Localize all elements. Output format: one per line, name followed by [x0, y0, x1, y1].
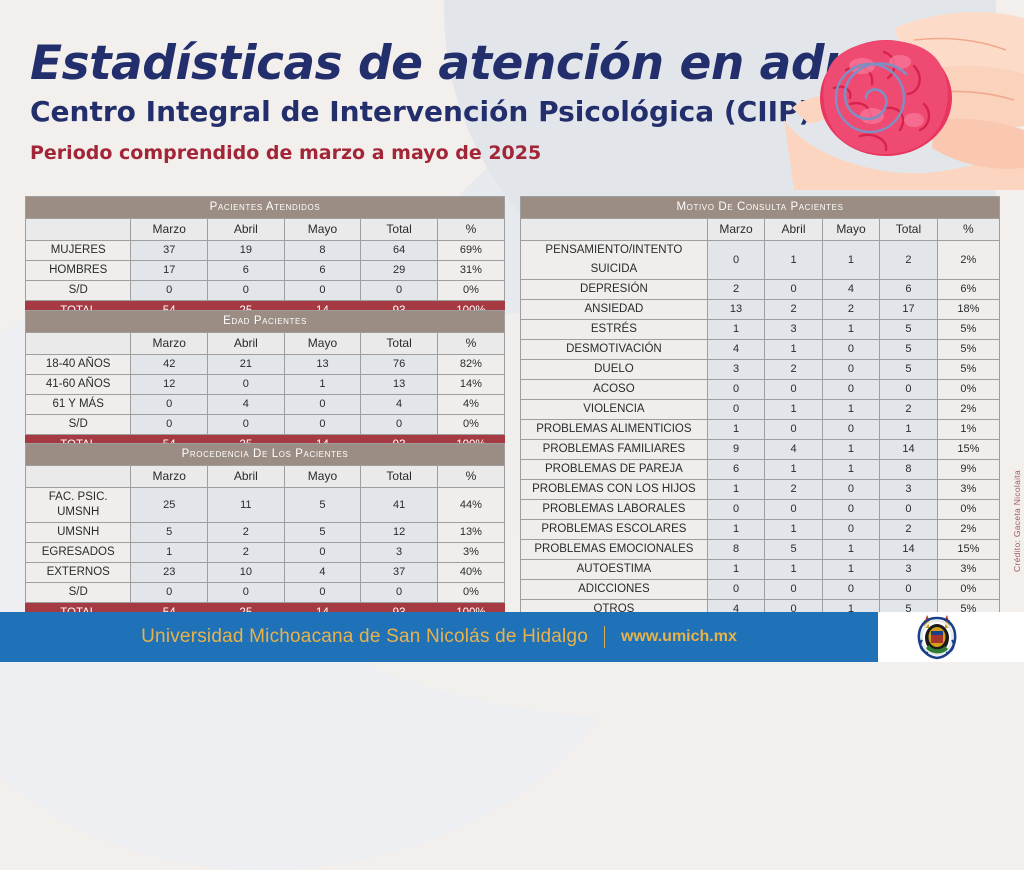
cell-value: 18% — [937, 300, 999, 320]
cell-value: 6 — [880, 280, 937, 300]
cell-value: 6 — [208, 261, 285, 281]
table-procedencia-pacientes: Procedencia De Los PacientesMarzoAbrilMa… — [25, 443, 505, 625]
cell-value: 3 — [361, 543, 438, 563]
cell-value: 0 — [822, 500, 879, 520]
cell-value: 13% — [437, 523, 504, 543]
cell-value: 0 — [765, 500, 822, 520]
cell-value: 1 — [284, 375, 361, 395]
cell-value: 5% — [937, 360, 999, 380]
row-label: ESTRÉS — [521, 320, 708, 340]
column-header-total: Total — [880, 219, 937, 241]
table-header-row: MarzoAbrilMayoTotal% — [26, 333, 505, 355]
cell-value: 14 — [880, 540, 937, 560]
column-header-abril: Abril — [208, 333, 285, 355]
cell-value: 19 — [208, 241, 285, 261]
row-label: 41-60 AÑOS — [26, 375, 131, 395]
row-label: DESMOTIVACIÓN — [521, 340, 708, 360]
cell-value: 2% — [937, 520, 999, 540]
table-row: S/D00000% — [26, 415, 505, 435]
table-row: ANSIEDAD13221718% — [521, 300, 1000, 320]
row-label: S/D — [26, 583, 131, 603]
cell-value: 0 — [208, 583, 285, 603]
cell-value: 44% — [437, 488, 504, 523]
cell-value: 6% — [937, 280, 999, 300]
cell-value: 1 — [707, 520, 764, 540]
cell-value: 0% — [437, 415, 504, 435]
cell-value: 0 — [822, 360, 879, 380]
table-row: AUTOESTIMA11133% — [521, 560, 1000, 580]
table-row: PENSAMIENTO/INTENTO SUICIDA01122% — [521, 241, 1000, 280]
table-row: DESMOTIVACIÓN41055% — [521, 340, 1000, 360]
column-header-total: Total — [361, 466, 438, 488]
table-caption: Edad Pacientes — [26, 311, 505, 333]
table-row: 61 Y MÁS04044% — [26, 395, 505, 415]
cell-value: 0 — [361, 583, 438, 603]
column-header-mayo: Mayo — [284, 466, 361, 488]
cell-value: 0 — [284, 281, 361, 301]
cell-value: 3 — [880, 560, 937, 580]
row-label: ACOSO — [521, 380, 708, 400]
table-row: EXTERNOS231043740% — [26, 563, 505, 583]
cell-value: 69% — [437, 241, 504, 261]
cell-value: 1 — [131, 543, 208, 563]
row-label: PROBLEMAS CON LOS HIJOS — [521, 480, 708, 500]
cell-value: 1 — [765, 520, 822, 540]
cell-value: 4 — [361, 395, 438, 415]
row-label: PROBLEMAS ALIMENTICIOS — [521, 420, 708, 440]
table-row: PROBLEMAS ESCOLARES11022% — [521, 520, 1000, 540]
cell-value: 5% — [937, 320, 999, 340]
cell-value: 1 — [822, 560, 879, 580]
cell-value: 29 — [361, 261, 438, 281]
row-label: ADICCIONES — [521, 580, 708, 600]
column-header-pct: % — [937, 219, 999, 241]
table-caption-row: Edad Pacientes — [26, 311, 505, 333]
row-label: PENSAMIENTO/INTENTO SUICIDA — [521, 241, 708, 280]
hands-holding-brain-icon — [774, 0, 1024, 190]
cell-value: 0 — [707, 380, 764, 400]
table-caption-row: Motivo De Consulta Pacientes — [521, 197, 1000, 219]
row-label: FAC. PSIC.UMSNH — [26, 488, 131, 523]
cell-value: 8 — [880, 460, 937, 480]
table-pacientes-atendidos: Pacientes AtendidosMarzoAbrilMayoTotal%M… — [25, 196, 505, 323]
row-label: 61 Y MÁS — [26, 395, 131, 415]
page-subtitle: Centro Integral de Intervención Psicológ… — [30, 95, 822, 128]
cell-value: 0 — [284, 415, 361, 435]
cell-value: 11 — [208, 488, 285, 523]
cell-value: 25 — [131, 488, 208, 523]
table-header-row: MarzoAbrilMayoTotal% — [521, 219, 1000, 241]
column-header-marzo: Marzo — [131, 219, 208, 241]
cell-value: 1% — [937, 420, 999, 440]
cell-value: 0 — [765, 420, 822, 440]
cell-value: 2 — [208, 523, 285, 543]
cell-value: 1 — [707, 420, 764, 440]
table-row: DEPRESIÓN20466% — [521, 280, 1000, 300]
cell-value: 0 — [131, 281, 208, 301]
cell-value: 0 — [131, 415, 208, 435]
row-label: MUJERES — [26, 241, 131, 261]
row-label: DEPRESIÓN — [521, 280, 708, 300]
cell-value: 1 — [822, 320, 879, 340]
cell-value: 0 — [208, 415, 285, 435]
cell-value: 0 — [880, 500, 937, 520]
table-header-row: MarzoAbrilMayoTotal% — [26, 219, 505, 241]
table-row: PROBLEMAS CON LOS HIJOS12033% — [521, 480, 1000, 500]
cell-value: 0 — [822, 580, 879, 600]
table-header-row: MarzoAbrilMayoTotal% — [26, 466, 505, 488]
cell-value: 2 — [707, 280, 764, 300]
cell-value: 1 — [822, 241, 879, 280]
cell-value: 41 — [361, 488, 438, 523]
cell-value: 0 — [131, 583, 208, 603]
cell-value: 0 — [880, 580, 937, 600]
table-row: UMSNH5251213% — [26, 523, 505, 543]
cell-value: 10 — [208, 563, 285, 583]
cell-value: 5 — [131, 523, 208, 543]
cell-value: 0 — [131, 395, 208, 415]
cell-value: 0 — [361, 281, 438, 301]
footer: Universidad Michoacana de San Nicolás de… — [0, 612, 1024, 662]
cell-value: 0 — [822, 480, 879, 500]
cell-value: 1 — [707, 560, 764, 580]
cell-value: 0 — [765, 580, 822, 600]
cell-value: 5 — [765, 540, 822, 560]
credit-text: Crédito: Gaceta Nicolaita — [1012, 470, 1022, 572]
cell-value: 0 — [361, 415, 438, 435]
column-header-blank — [26, 333, 131, 355]
table-row: ACOSO00000% — [521, 380, 1000, 400]
row-label: PROBLEMAS EMOCIONALES — [521, 540, 708, 560]
footer-url[interactable]: www.umich.mx — [621, 628, 737, 646]
cell-value: 13 — [707, 300, 764, 320]
cell-value: 76 — [361, 355, 438, 375]
umsnh-crest-icon — [912, 612, 962, 660]
cell-value: 1 — [765, 340, 822, 360]
period-label: Periodo comprendido de marzo a mayo de 2… — [30, 142, 541, 164]
cell-value: 0 — [707, 400, 764, 420]
cell-value: 0 — [822, 420, 879, 440]
table-row: PROBLEMAS DE PAREJA61189% — [521, 460, 1000, 480]
cell-value: 3% — [937, 560, 999, 580]
cell-value: 12 — [131, 375, 208, 395]
column-header-abril: Abril — [208, 466, 285, 488]
cell-value: 13 — [284, 355, 361, 375]
cell-value: 2 — [880, 400, 937, 420]
column-header-marzo: Marzo — [131, 333, 208, 355]
cell-value: 9% — [937, 460, 999, 480]
table-edad-pacientes: Edad PacientesMarzoAbrilMayoTotal%18-40 … — [25, 310, 505, 457]
table-row: MUJERES371986469% — [26, 241, 505, 261]
table-caption: Pacientes Atendidos — [26, 197, 505, 219]
cell-value: 17 — [131, 261, 208, 281]
cell-value: 2 — [765, 360, 822, 380]
row-label: DUELO — [521, 360, 708, 380]
cell-value: 4 — [208, 395, 285, 415]
cell-value: 3 — [765, 320, 822, 340]
cell-value: 2% — [937, 400, 999, 420]
cell-value: 40% — [437, 563, 504, 583]
row-label: 18-40 AÑOS — [26, 355, 131, 375]
table-row: PROBLEMAS FAMILIARES9411415% — [521, 440, 1000, 460]
cell-value: 5 — [284, 523, 361, 543]
table-row: PROBLEMAS LABORALES00000% — [521, 500, 1000, 520]
cell-value: 4 — [707, 340, 764, 360]
cell-value: 1 — [707, 480, 764, 500]
footer-university-name: Universidad Michoacana de San Nicolás de… — [141, 626, 588, 648]
cell-value: 17 — [880, 300, 937, 320]
row-label: AUTOESTIMA — [521, 560, 708, 580]
cell-value: 1 — [707, 320, 764, 340]
column-header-pct: % — [437, 466, 504, 488]
cell-value: 15% — [937, 440, 999, 460]
column-header-blank — [26, 219, 131, 241]
cell-value: 2 — [822, 300, 879, 320]
cell-value: 0 — [284, 583, 361, 603]
cell-value: 2 — [880, 241, 937, 280]
table-caption: Motivo De Consulta Pacientes — [521, 197, 1000, 219]
cell-value: 0 — [822, 340, 879, 360]
cell-value: 1 — [765, 400, 822, 420]
cell-value: 64 — [361, 241, 438, 261]
table-row: DUELO32055% — [521, 360, 1000, 380]
cell-value: 6 — [707, 460, 764, 480]
row-label: PROBLEMAS FAMILIARES — [521, 440, 708, 460]
column-header-marzo: Marzo — [707, 219, 764, 241]
cell-value: 2 — [880, 520, 937, 540]
cell-value: 0 — [707, 500, 764, 520]
column-header-blank — [26, 466, 131, 488]
cell-value: 1 — [880, 420, 937, 440]
cell-value: 12 — [361, 523, 438, 543]
table-row: EGRESADOS12033% — [26, 543, 505, 563]
cell-value: 5 — [880, 360, 937, 380]
column-header-abril: Abril — [765, 219, 822, 241]
cell-value: 0 — [707, 580, 764, 600]
cell-value: 14% — [437, 375, 504, 395]
cell-value: 15% — [937, 540, 999, 560]
cell-value: 1 — [822, 460, 879, 480]
cell-value: 1 — [822, 400, 879, 420]
cell-value: 0 — [284, 543, 361, 563]
cell-value: 4 — [284, 563, 361, 583]
cell-value: 0 — [822, 520, 879, 540]
column-header-total: Total — [361, 219, 438, 241]
cell-value: 23 — [131, 563, 208, 583]
cell-value: 4% — [437, 395, 504, 415]
column-header-mayo: Mayo — [284, 333, 361, 355]
row-label: ANSIEDAD — [521, 300, 708, 320]
row-label: PROBLEMAS LABORALES — [521, 500, 708, 520]
table-row: FAC. PSIC.UMSNH251154144% — [26, 488, 505, 523]
cell-value: 3% — [937, 480, 999, 500]
cell-value: 1 — [765, 460, 822, 480]
cell-value: 2 — [208, 543, 285, 563]
footer-divider — [604, 626, 605, 648]
row-label: UMSNH — [26, 523, 131, 543]
row-label: EGRESADOS — [26, 543, 131, 563]
cell-value: 3 — [707, 360, 764, 380]
cell-value: 21 — [208, 355, 285, 375]
cell-value: 0 — [208, 281, 285, 301]
column-header-marzo: Marzo — [131, 466, 208, 488]
table-row: 41-60 AÑOS12011314% — [26, 375, 505, 395]
cell-value: 2 — [765, 300, 822, 320]
column-header-pct: % — [437, 333, 504, 355]
table-caption-row: Procedencia De Los Pacientes — [26, 444, 505, 466]
row-label: EXTERNOS — [26, 563, 131, 583]
cell-value: 0% — [937, 380, 999, 400]
row-label: S/D — [26, 415, 131, 435]
cell-value: 0 — [880, 380, 937, 400]
cell-value: 37 — [131, 241, 208, 261]
cell-value: 5 — [284, 488, 361, 523]
table-caption: Procedencia De Los Pacientes — [26, 444, 505, 466]
cell-value: 0% — [937, 500, 999, 520]
cell-value: 13 — [361, 375, 438, 395]
cell-value: 37 — [361, 563, 438, 583]
cell-value: 3% — [437, 543, 504, 563]
cell-value: 0% — [937, 580, 999, 600]
column-header-abril: Abril — [208, 219, 285, 241]
table-row: PROBLEMAS EMOCIONALES8511415% — [521, 540, 1000, 560]
cell-value: 5 — [880, 320, 937, 340]
cell-value: 5% — [937, 340, 999, 360]
cell-value: 31% — [437, 261, 504, 281]
cell-value: 9 — [707, 440, 764, 460]
cell-value: 0 — [765, 280, 822, 300]
column-header-pct: % — [437, 219, 504, 241]
cell-value: 1 — [765, 560, 822, 580]
row-label: HOMBRES — [26, 261, 131, 281]
cell-value: 0 — [765, 380, 822, 400]
row-label: PROBLEMAS ESCOLARES — [521, 520, 708, 540]
cell-value: 2% — [937, 241, 999, 280]
cell-value: 1 — [765, 241, 822, 280]
cell-value: 0 — [284, 395, 361, 415]
cell-value: 0% — [437, 281, 504, 301]
table-row: HOMBRES17662931% — [26, 261, 505, 281]
table-row: ADICCIONES00000% — [521, 580, 1000, 600]
cell-value: 14 — [880, 440, 937, 460]
cell-value: 2 — [765, 480, 822, 500]
cell-value: 5 — [880, 340, 937, 360]
table-caption-row: Pacientes Atendidos — [26, 197, 505, 219]
cell-value: 42 — [131, 355, 208, 375]
row-label: S/D — [26, 281, 131, 301]
cell-value: 6 — [284, 261, 361, 281]
cell-value: 4 — [822, 280, 879, 300]
cell-value: 0 — [707, 241, 764, 280]
row-label: PROBLEMAS DE PAREJA — [521, 460, 708, 480]
footer-bar: Universidad Michoacana de San Nicolás de… — [0, 612, 878, 662]
cell-value: 4 — [765, 440, 822, 460]
cell-value: 0 — [208, 375, 285, 395]
cell-value: 8 — [284, 241, 361, 261]
table-row: S/D00000% — [26, 583, 505, 603]
table-row: S/D00000% — [26, 281, 505, 301]
table-row: VIOLENCIA01122% — [521, 400, 1000, 420]
cell-value: 3 — [880, 480, 937, 500]
table-row: ESTRÉS13155% — [521, 320, 1000, 340]
cell-value: 0% — [437, 583, 504, 603]
cell-value: 82% — [437, 355, 504, 375]
table-row: 18-40 AÑOS4221137682% — [26, 355, 505, 375]
cell-value: 0 — [822, 380, 879, 400]
column-header-blank — [521, 219, 708, 241]
table-motivo-consulta: Motivo De Consulta PacientesMarzoAbrilMa… — [520, 196, 1000, 662]
row-label: VIOLENCIA — [521, 400, 708, 420]
column-header-mayo: Mayo — [284, 219, 361, 241]
cell-value: 1 — [822, 440, 879, 460]
column-header-mayo: Mayo — [822, 219, 879, 241]
table-row: PROBLEMAS ALIMENTICIOS10011% — [521, 420, 1000, 440]
column-header-total: Total — [361, 333, 438, 355]
cell-value: 1 — [822, 540, 879, 560]
cell-value: 8 — [707, 540, 764, 560]
